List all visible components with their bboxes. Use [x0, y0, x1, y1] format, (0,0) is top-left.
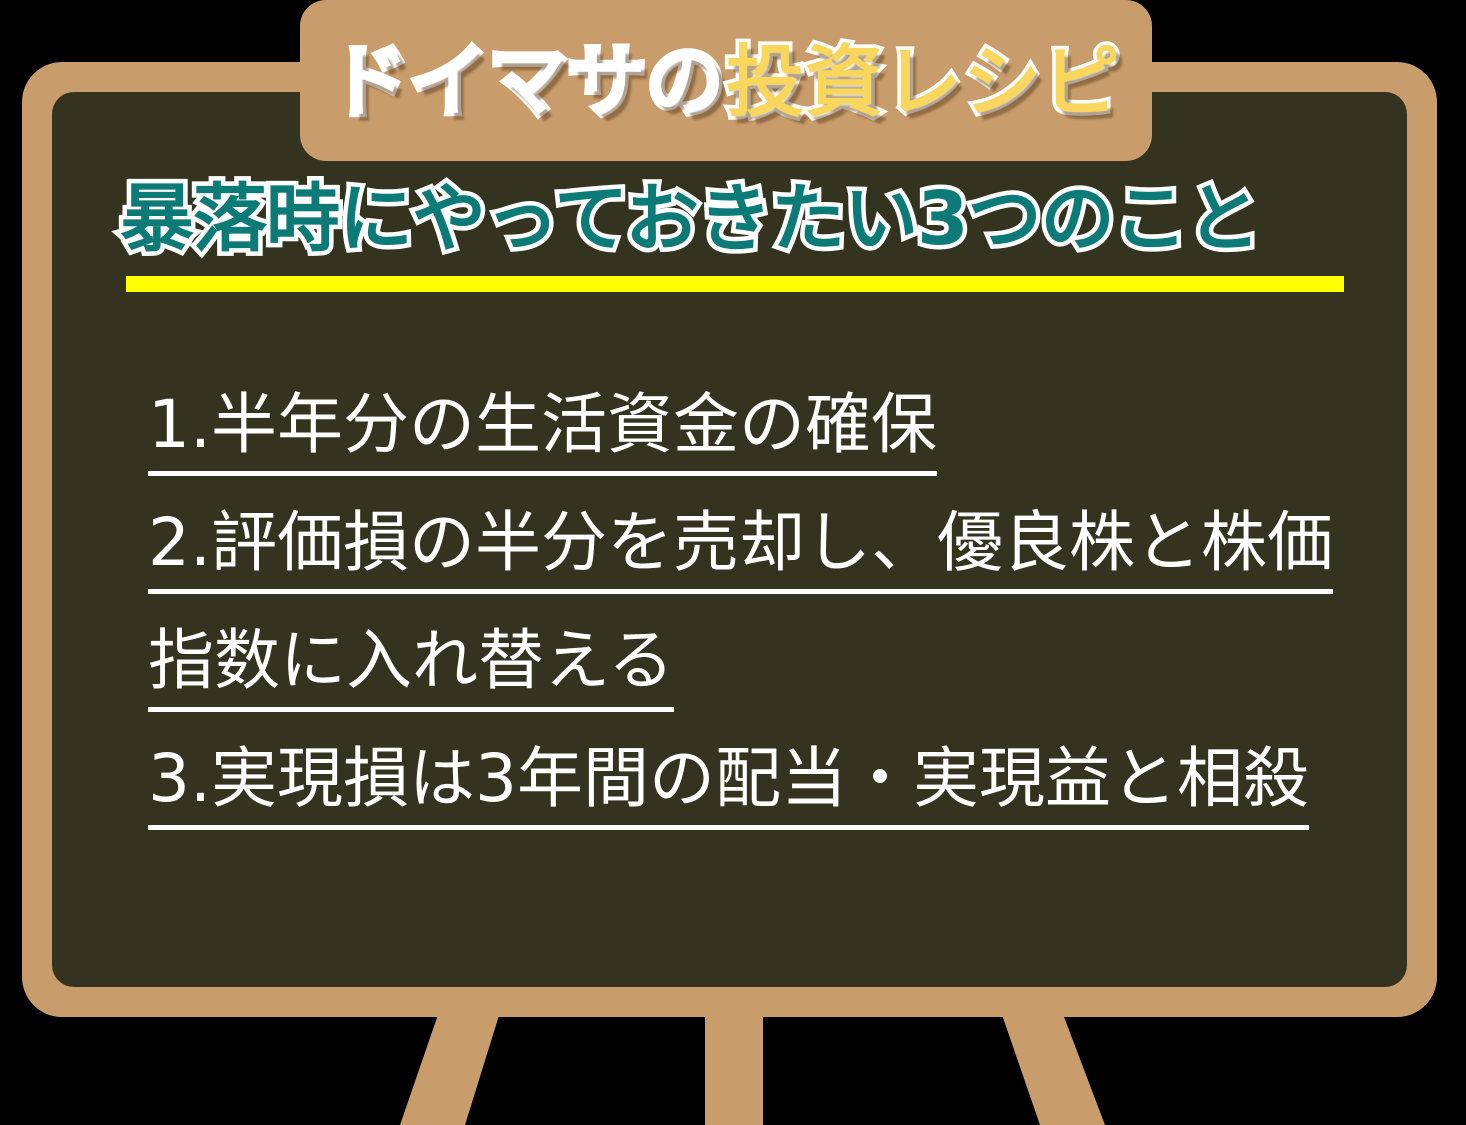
list-item: 2.評価損の半分を売却し、優良株と株価 — [148, 510, 1378, 576]
brand-title-prefix: ドイマサの — [331, 38, 726, 128]
list-item-text: 1.半年分の生活資金の確保 — [148, 386, 937, 476]
headline-block: 暴落時にやっておきたい3つのこと — [120, 180, 1360, 292]
list-item: 3.実現損は3年間の配当・実現益と相殺 — [148, 746, 1378, 812]
list-item-text: 指数に入れ替える — [148, 622, 674, 712]
list-item-continuation: 指数に入れ替える — [148, 628, 1378, 694]
chalkboard-surface: 暴落時にやっておきたい3つのこと 1.半年分の生活資金の確保 2.評価損の半分を… — [52, 92, 1407, 987]
headline-underline-rule — [126, 276, 1344, 292]
brand-title: ドイマサの投資レシピ — [331, 44, 1121, 122]
list-item: 1.半年分の生活資金の確保 — [148, 392, 1378, 458]
content-list: 1.半年分の生活資金の確保 2.評価損の半分を売却し、優良株と株価 指数に入れ替… — [148, 392, 1378, 864]
list-item-text: 3.実現損は3年間の配当・実現益と相殺 — [148, 740, 1309, 830]
easel-chalkboard-scene: 暴落時にやっておきたい3つのこと 1.半年分の生活資金の確保 2.評価損の半分を… — [0, 0, 1466, 1125]
brand-title-highlight: 投資レシピ — [726, 38, 1121, 128]
list-item-text: 2.評価損の半分を売却し、優良株と株価 — [148, 504, 1333, 594]
page-title: 暴落時にやっておきたい3つのこと — [120, 180, 1360, 260]
brand-banner: ドイマサの投資レシピ — [300, 0, 1152, 161]
